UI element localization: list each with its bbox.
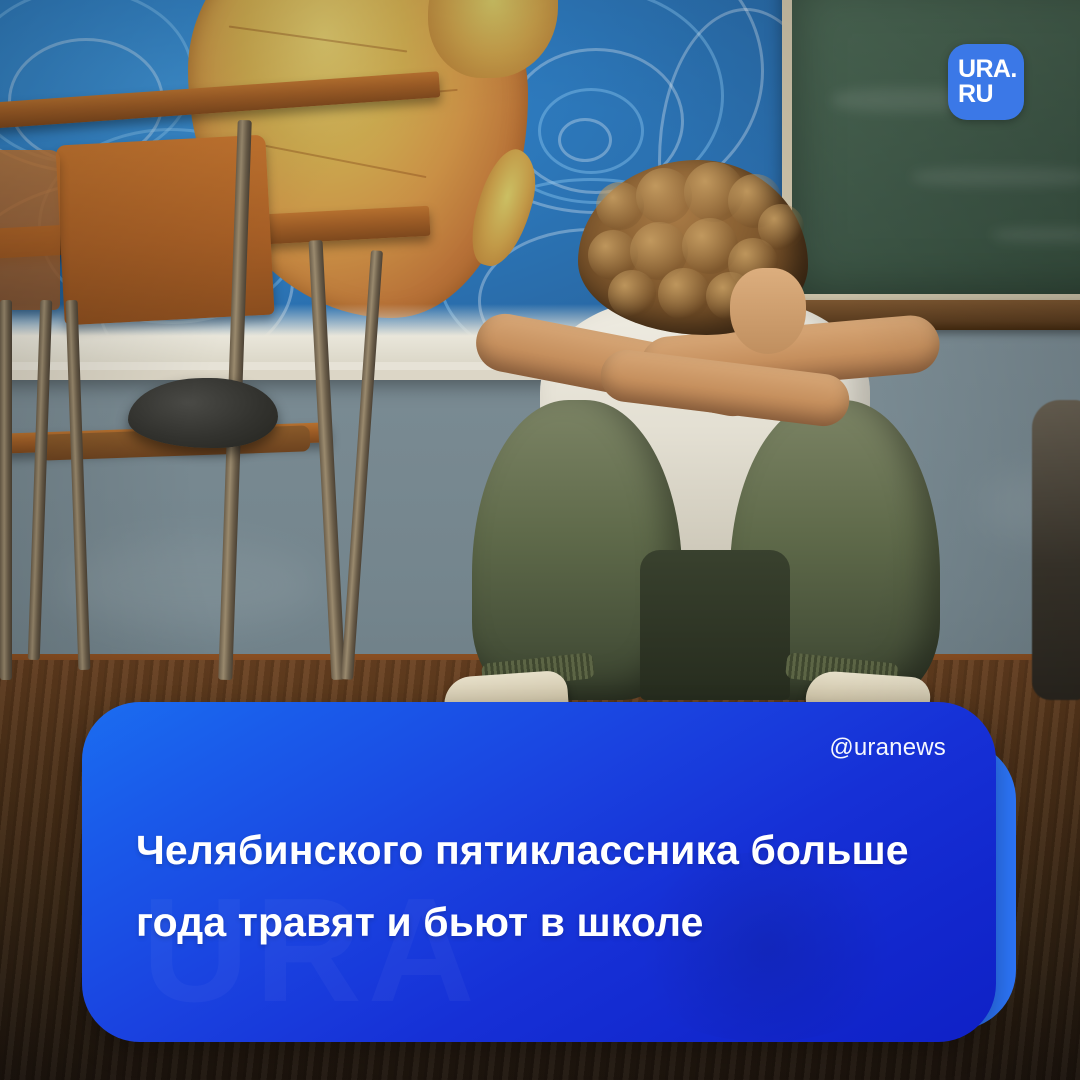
pants-center	[640, 550, 790, 700]
channel-handle[interactable]: @uranews	[829, 734, 946, 762]
wall-patch	[60, 540, 320, 630]
logo-line-2: RU	[958, 82, 993, 107]
school-bag	[128, 378, 278, 448]
background-person-legs	[1032, 400, 1080, 700]
logo-line-1: URA.	[958, 57, 1017, 82]
student-figure	[430, 150, 970, 730]
headline-text: Челябинского пятиклассника больше года т…	[136, 814, 940, 958]
desk-leg	[0, 300, 12, 680]
social-news-card-image: URA. RU URA @uranews Челябинского пятикл…	[0, 0, 1080, 1080]
face-partial	[730, 268, 806, 354]
chair-back-back	[0, 150, 60, 310]
headline-card[interactable]: URA @uranews Челябинского пятиклассника …	[82, 702, 996, 1042]
ura-ru-logo[interactable]: URA. RU	[948, 44, 1024, 120]
